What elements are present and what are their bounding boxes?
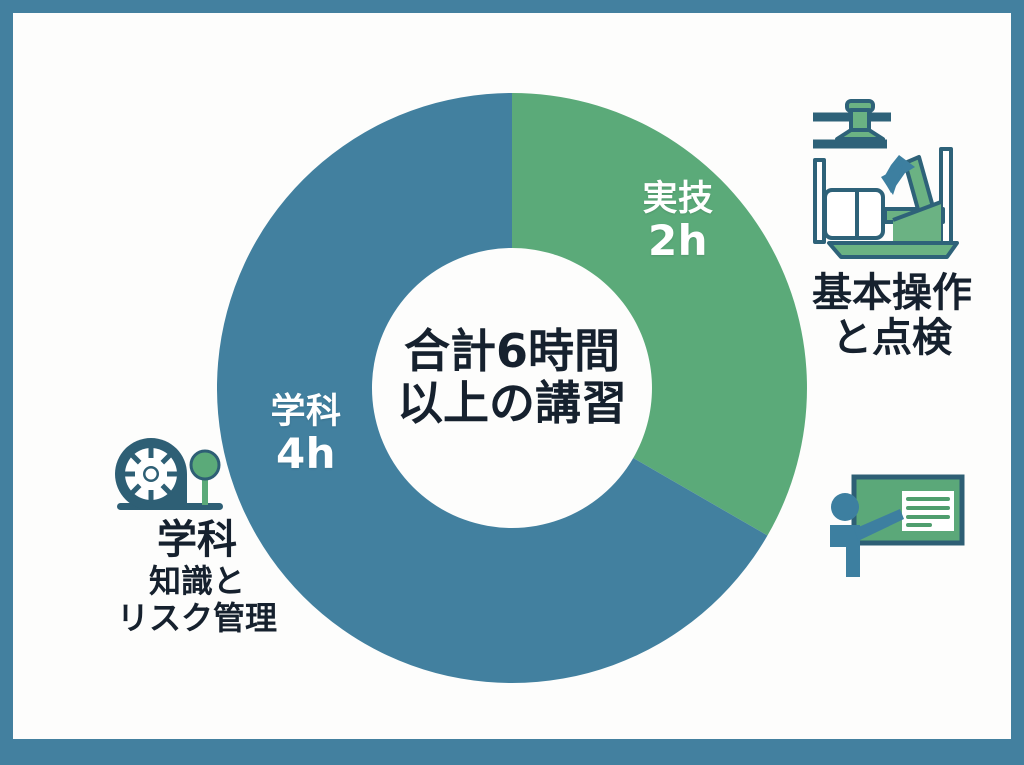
annotation-right-top-sub-line-1: と点検 xyxy=(789,316,995,361)
forklift-press-machine-icon xyxy=(807,97,971,263)
donut-slice-jitsugi[interactable] xyxy=(512,93,807,536)
annotation-left-title: 学科 xyxy=(73,518,321,563)
tire-wheel-icon xyxy=(101,437,229,515)
poster-canvas: 実技 2h 学科 4h 合計6時間 以上の講習 xyxy=(13,13,1011,739)
annotation-left: 学科 知識と リスク管理 xyxy=(73,518,321,638)
presenter-whiteboard-icon xyxy=(818,463,968,581)
annotation-left-sub-line-2: リスク管理 xyxy=(73,600,321,637)
annotation-right-top-title: 基本操作 xyxy=(789,271,995,316)
annotation-left-sub-line-1: 知識と xyxy=(73,563,321,600)
annotation-right-top: 基本操作 と点検 xyxy=(789,271,995,361)
poster-frame: 実技 2h 学科 4h 合計6時間 以上の講習 xyxy=(0,0,1024,765)
